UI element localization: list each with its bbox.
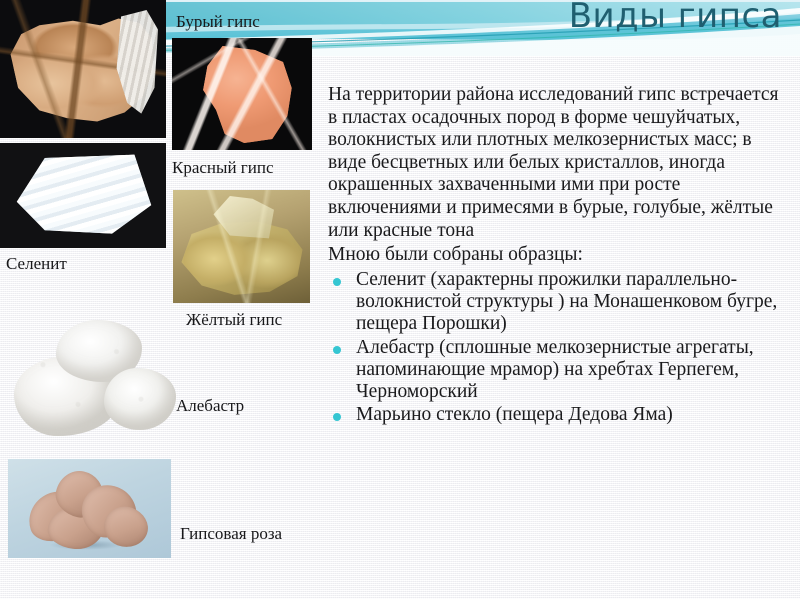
bullet-dot-icon [333, 278, 341, 286]
bullet-dot-icon [333, 346, 341, 354]
page-title: Виды гипса [569, 0, 782, 36]
caption-alabaster: Алебастр [176, 396, 244, 416]
caption-brown-gypsum: Бурый гипс [176, 12, 260, 32]
intro-paragraph: На территории района исследований гипс в… [328, 84, 790, 242]
list-item-text: Марьино стекло (пещера Дедова Яма) [356, 404, 673, 425]
list-item-text: Селенит (характерны прожилки параллельно… [356, 269, 777, 334]
samples-list: Селенит (характерны прожилки параллельно… [328, 269, 790, 427]
bullet-dot-icon [333, 413, 341, 421]
gypsum-rose-specimen [26, 467, 152, 551]
photo-yellow-gypsum [173, 190, 310, 303]
yellow-gypsum-highlight [173, 190, 310, 303]
photo-selenite [0, 143, 166, 248]
caption-yellow-gypsum: Жёлтый гипс [186, 310, 282, 330]
list-item: Марьино стекло (пещера Дедова Яма) [328, 404, 790, 426]
caption-red-gypsum: Красный гипс [172, 158, 274, 178]
photo-red-gypsum [172, 38, 312, 150]
list-item: Алебастр (сплошные мелкозернистые агрега… [328, 337, 790, 404]
caption-selenite: Селенит [6, 254, 67, 274]
list-item-text: Алебастр (сплошные мелкозернистые агрега… [356, 337, 754, 402]
photo-gypsum-rose [8, 459, 171, 558]
samples-intro-paragraph: Мною были собраны образцы: [328, 244, 790, 267]
selenite-specimen [14, 153, 154, 237]
red-gypsum-veining [172, 38, 312, 150]
photo-brown-gypsum [0, 0, 166, 138]
photo-alabaster [8, 312, 183, 444]
alabaster-grain-texture [8, 312, 183, 444]
body-text-column: На территории района исследований гипс в… [328, 84, 790, 427]
caption-gypsum-rose: Гипсовая роза [180, 524, 282, 544]
list-item: Селенит (характерны прожилки параллельно… [328, 269, 790, 336]
slide: Виды гипса Бурый гипс Красный гипс Селен… [0, 0, 800, 599]
